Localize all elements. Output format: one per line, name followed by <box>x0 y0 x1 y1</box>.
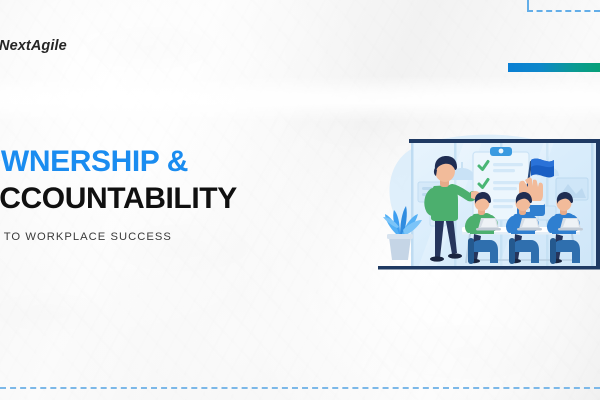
page-subtitle: IDE TO WORKPLACE SUCCESS <box>0 231 172 243</box>
floor-line <box>378 266 600 270</box>
illustration-team-meeting <box>378 118 600 274</box>
background-highlight-strip <box>0 76 600 122</box>
page-title: OWNERSHIP & ACCOUNTABILITY <box>0 147 237 214</box>
gradient-accent-bar <box>508 63 600 72</box>
room-right-frame <box>596 139 600 269</box>
brand-logo[interactable]: NextAgile <box>0 38 67 54</box>
dashed-bracket-decor <box>527 0 600 12</box>
title-line-2: ACCOUNTABILITY <box>0 184 237 215</box>
poster-canvas: NextAgile OWNERSHIP & ACCOUNTABILITY IDE… <box>0 0 600 400</box>
room-top-beam <box>409 139 600 143</box>
dashed-rule-decor <box>0 387 600 389</box>
title-line-1: OWNERSHIP & <box>0 147 237 178</box>
brand-name: NextAgile <box>0 38 67 54</box>
